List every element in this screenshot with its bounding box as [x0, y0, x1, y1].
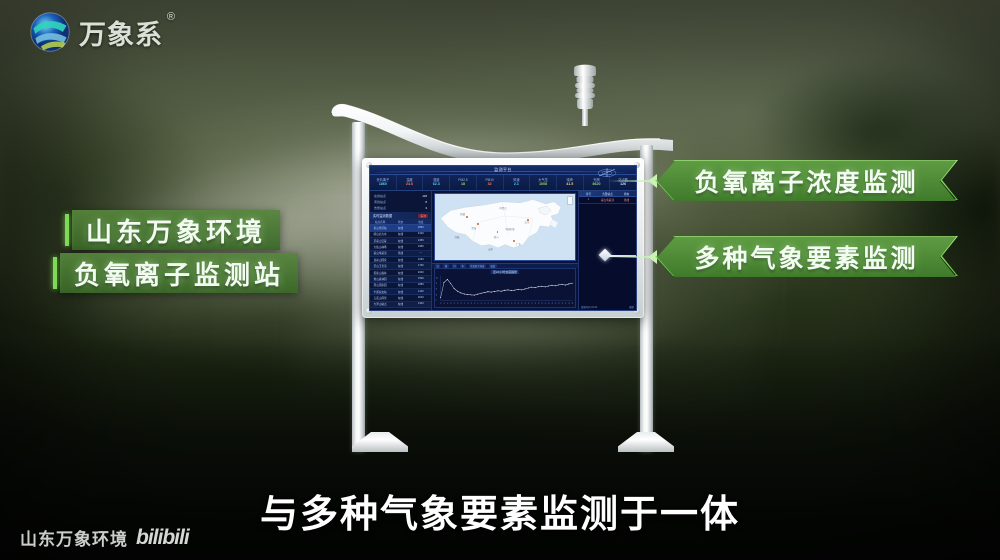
weather-sensor-icon	[570, 60, 600, 126]
svg-text:39: 39	[572, 302, 574, 305]
table-body[interactable]: 泰山景区站在线2860崂山北九水在线3120沂蒙山云蒙在线2450九仙山林场在线…	[370, 225, 431, 310]
radar-icon	[596, 165, 618, 176]
callout-left-2: 负氧离子监测站	[60, 253, 298, 293]
svg-text:17: 17	[497, 302, 499, 305]
stat-value: 18	[461, 183, 465, 187]
left-panel: 在线站点118离线站点8告警站点3 实时监测数据 实时 站点名称状态浓度 泰山景…	[370, 191, 432, 310]
table-cell: 在线	[390, 289, 410, 294]
gauge-row: 告警站点3	[374, 206, 427, 210]
gauge-label: 在线站点	[374, 194, 386, 198]
alert-cell: 离线	[617, 197, 636, 202]
gauge-value: 3	[425, 206, 427, 210]
alert-table-body[interactable]: 1蒙山龟蒙顶离线	[579, 197, 636, 203]
stat-item: PM2.518	[450, 175, 477, 190]
svg-text:03: 03	[450, 302, 452, 305]
table-cell: 沂山玉皇顶	[370, 263, 390, 268]
table-cell: 在线	[390, 283, 410, 288]
svg-text:20: 20	[508, 302, 510, 305]
table-cell: 1590	[411, 276, 431, 281]
svg-text:26: 26	[528, 302, 530, 305]
svg-text:24: 24	[521, 302, 523, 305]
gauge-row: 在线站点118	[374, 194, 427, 198]
dashboard-screen[interactable]: 监测平台 负氧离子1860温度24.6湿度62.3PM2.518PM1032风速…	[369, 165, 637, 311]
base-plate-icon	[618, 432, 674, 452]
stat-item: 湿度62.3	[423, 175, 450, 190]
svg-text:18: 18	[501, 302, 503, 305]
dashboard-title: 监测平台	[494, 167, 512, 173]
table-cell: 2230	[411, 257, 431, 262]
stat-value: 126	[620, 183, 626, 187]
table-cell: 五莲山风景	[370, 295, 390, 300]
svg-text:36: 36	[562, 302, 564, 305]
svg-text:10: 10	[474, 302, 476, 305]
svg-text:02: 02	[447, 302, 449, 305]
gauge-list: 在线站点118离线站点8告警站点3	[370, 191, 431, 212]
table-cell: 在线	[390, 270, 410, 275]
table-cell: 在线	[390, 295, 410, 300]
svg-text:09: 09	[470, 302, 472, 305]
connector-line-1	[608, 180, 650, 182]
svg-text:14: 14	[487, 302, 489, 305]
svg-text:13: 13	[484, 302, 486, 305]
svg-text:37: 37	[565, 302, 567, 305]
table-cell: 崂山北九水	[370, 232, 390, 237]
status-badge: 实时	[418, 214, 428, 218]
table-cell: 1880	[411, 283, 431, 288]
table-cell: 在线	[390, 263, 410, 268]
table-cell: 在线	[390, 244, 410, 249]
svg-text:22: 22	[514, 302, 516, 305]
refresh-button[interactable]: 刷新	[629, 305, 634, 309]
watermark: 山东万象环境 bilibili	[20, 525, 189, 550]
gauge-label: 告警站点	[374, 206, 386, 210]
table-row[interactable]: 大泽山站点在线1340	[370, 302, 431, 308]
svg-text:11: 11	[477, 302, 479, 305]
callout-left-1: 山东万象环境	[72, 210, 280, 250]
svg-text:16: 16	[494, 302, 496, 305]
table-cell: —	[411, 251, 431, 256]
brand-name-text: 万象系	[79, 20, 163, 50]
table-cell: 在线	[390, 302, 410, 307]
stat-value: 24.6	[406, 183, 413, 187]
svg-text:33: 33	[551, 302, 553, 305]
stat-item: 大气压1008	[530, 175, 557, 190]
table-column-header: 状态	[390, 219, 410, 224]
right-panel-footer: 更新时间 10:24 刷新	[579, 305, 636, 309]
table-cell: 大泽山站点	[370, 302, 390, 307]
table-cell: 1980	[411, 244, 431, 249]
stat-value: 62.3	[433, 183, 440, 187]
map-place-label: 青海	[471, 226, 476, 230]
table-cell: 2450	[411, 238, 431, 243]
curved-arch-icon	[330, 95, 675, 165]
svg-text:25: 25	[436, 294, 437, 296]
svg-text:29: 29	[538, 302, 540, 305]
table-cell: 在线	[390, 225, 410, 230]
table-cell: 1420	[411, 289, 431, 294]
table-cell: 蒙山龟蒙顶	[370, 251, 390, 256]
stat-item: PM1032	[477, 175, 504, 190]
table-cell: 在线	[390, 257, 410, 262]
svg-text:75: 75	[436, 283, 437, 285]
svg-text:31: 31	[545, 302, 547, 305]
svg-text:04: 04	[454, 302, 456, 305]
connector-line-2	[608, 256, 650, 258]
chart-title: 近24小时浓度趋势	[491, 270, 519, 274]
table-cell: 2040	[411, 270, 431, 275]
table-cell: 原山国家园	[370, 283, 390, 288]
stat-item: 噪声41.5	[557, 175, 584, 190]
alert-column-header: 序号	[579, 191, 598, 196]
svg-text:38: 38	[568, 302, 570, 305]
callout-arrow-1-icon	[648, 174, 657, 188]
svg-text:08: 08	[467, 302, 469, 305]
table-cell: 昆嵛山国家	[370, 257, 390, 262]
stat-value: 1008	[539, 183, 547, 187]
table-cell: 1340	[411, 302, 431, 307]
trend-chart: 近24小时浓度趋势 000102030405060708091011121314…	[434, 268, 576, 308]
globe-icon	[28, 10, 72, 54]
svg-text:07: 07	[464, 302, 466, 305]
table-cell: 徂徕山森林	[370, 270, 390, 275]
svg-text:21: 21	[511, 302, 513, 305]
table-cell: 泰山景区站	[370, 225, 390, 230]
svg-text:35: 35	[558, 302, 560, 305]
svg-text:27: 27	[531, 302, 533, 305]
svg-text:32: 32	[548, 302, 550, 305]
gauge-value: 8	[425, 200, 427, 204]
callout-right-1-text: 负氧离子浓度监测	[694, 163, 918, 199]
alert-cell: 蒙山龟蒙顶	[598, 197, 617, 202]
center-panel: 新疆 内蒙古 青海 西藏 四川 云南 山东 广东 中国区域	[432, 191, 578, 310]
table-cell: 在线	[390, 276, 410, 281]
stat-value: 41.5	[566, 183, 573, 187]
map-place-label: 云南	[488, 247, 493, 251]
stat-item: 风速2.1	[504, 175, 531, 190]
svg-text:100: 100	[436, 277, 438, 279]
svg-text:50: 50	[436, 289, 437, 291]
callout-right-2: 多种气象要素监测	[657, 237, 956, 277]
table-title: 实时监测数据	[373, 213, 392, 218]
table-cell: 沂蒙山云蒙	[370, 238, 390, 243]
table-column-header: 站点名称	[370, 219, 390, 224]
registered-mark: ®	[167, 11, 176, 23]
alert-cell: 1	[579, 197, 598, 202]
stat-value: 8620	[592, 183, 600, 187]
svg-text:34: 34	[555, 302, 557, 305]
stat-item: 负氧离子1860	[370, 175, 397, 190]
brand-logo: 万象系 ®	[28, 10, 163, 54]
stat-value: 32	[488, 183, 492, 187]
gauge-row: 离线站点8	[374, 200, 427, 204]
dashboard-header: 监测平台	[370, 166, 636, 175]
table-cell: 3120	[411, 232, 431, 237]
map-marker-icon[interactable]	[466, 216, 468, 218]
map-place-label: 四川	[494, 235, 499, 239]
map-place-label: 广东	[516, 242, 521, 246]
table-cell: 1760	[411, 263, 431, 268]
dashboard-body: 在线站点118离线站点8告警站点3 实时监测数据 实时 站点名称状态浓度 泰山景…	[370, 191, 636, 310]
svg-text:23: 23	[518, 302, 520, 305]
svg-text:0: 0	[436, 300, 437, 302]
alert-column-header: 状态	[617, 191, 636, 196]
stat-value: 2.1	[514, 183, 519, 187]
table-cell: 牛郎织女站	[370, 289, 390, 294]
svg-text:30: 30	[541, 302, 543, 305]
callout-right-2-text: 多种气象要素监测	[694, 239, 918, 275]
map-marker-icon[interactable]	[477, 223, 479, 225]
table-cell: 九仙山林场	[370, 244, 390, 249]
monitoring-station: 监测平台 负氧离子1860温度24.6湿度62.3PM2.518PM1032风速…	[330, 60, 675, 460]
gauge-value: 118	[422, 194, 427, 198]
callout-left-2-text: 负氧离子监测站	[74, 255, 284, 292]
map-place-label: 内蒙古	[499, 206, 506, 210]
table-column-header: 浓度	[411, 219, 431, 224]
alert-column-header: 告警站点	[598, 191, 617, 196]
map-place-label: 山东	[525, 220, 530, 224]
svg-text:01: 01	[443, 302, 445, 305]
gauge-label: 离线站点	[374, 200, 386, 204]
table-cell: 在线	[390, 238, 410, 243]
table-cell: 2610	[411, 295, 431, 300]
map-place-label: 新疆	[460, 212, 465, 216]
chart-canvas: 0001020304050607080910111213141516171819…	[435, 269, 575, 307]
stat-value: 1860	[379, 183, 387, 187]
svg-text:19: 19	[504, 302, 506, 305]
svg-text:28: 28	[535, 302, 537, 305]
right-panel: 序号告警站点状态 1蒙山龟蒙顶离线 更新时间 10:24 刷新	[578, 191, 636, 310]
svg-text:12: 12	[481, 302, 483, 305]
table-title-bar: 实时监测数据 实时	[370, 212, 431, 219]
map-region-label: 中国区域	[505, 227, 515, 231]
brand-name: 万象系 ®	[79, 13, 163, 52]
watermark-company: 山东万象环境	[20, 525, 128, 550]
china-map[interactable]: 新疆 内蒙古 青海 西藏 四川 云南 山东 广东 中国区域	[434, 193, 576, 261]
table-cell: 在线	[390, 232, 410, 237]
map-place-label: 西藏	[455, 235, 460, 239]
table-cell: 鲁山森林园	[370, 276, 390, 281]
video-frame: 万象系 ®	[0, 0, 1000, 560]
svg-text:25: 25	[524, 302, 526, 305]
map-zoom-icon[interactable]	[567, 196, 573, 205]
base-plate-icon	[352, 432, 408, 452]
table-cell: 离线	[390, 251, 410, 256]
alert-row[interactable]: 1蒙山龟蒙顶离线	[579, 197, 636, 203]
svg-text:06: 06	[460, 302, 462, 305]
display-panel-frame: 监测平台 负氧离子1860温度24.6湿度62.3PM2.518PM1032风速…	[362, 158, 644, 318]
update-time: 更新时间 10:24	[581, 305, 597, 309]
callout-right-1: 负氧离子浓度监测	[657, 161, 956, 201]
svg-text:05: 05	[457, 302, 459, 305]
watermark-platform: bilibili	[136, 526, 189, 550]
svg-text:00: 00	[440, 302, 442, 305]
svg-text:15: 15	[491, 302, 493, 305]
table-cell: 2860	[411, 225, 431, 230]
callout-arrow-2-icon	[648, 250, 657, 264]
stat-item: 温度24.6	[397, 175, 424, 190]
callout-left-1-text: 山东万象环境	[86, 212, 266, 249]
